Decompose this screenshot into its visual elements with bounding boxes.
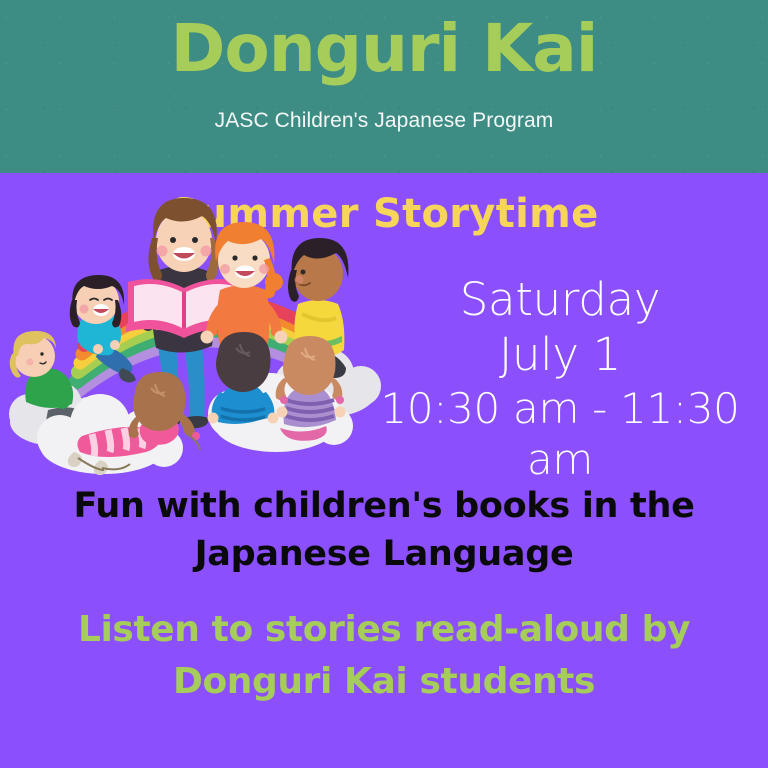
- storytime-illustration: [0, 196, 396, 486]
- event-datetime: Saturday July 1 10:30 am - 11:30 am: [352, 272, 768, 486]
- cta-line-1: Listen to stories read-aloud by: [34, 604, 734, 656]
- header-banner: Donguri Kai JASC Children's Japanese Pro…: [0, 0, 768, 173]
- event-description: Fun with children's books in the Japanes…: [54, 482, 714, 579]
- poster-canvas: Donguri Kai JASC Children's Japanese Pro…: [0, 0, 768, 768]
- page-title: Donguri Kai: [0, 16, 768, 82]
- event-day: Saturday: [352, 272, 768, 327]
- description-line-2: Japanese Language: [54, 530, 714, 578]
- event-time: 10:30 am - 11:30 am: [352, 383, 768, 486]
- cta-line-2: Donguri Kai students: [34, 656, 734, 708]
- page-subtitle: JASC Children's Japanese Program: [0, 109, 768, 133]
- event-cta: Listen to stories read-aloud by Donguri …: [34, 604, 734, 708]
- event-date: July 1: [352, 327, 768, 382]
- description-line-1: Fun with children's books in the: [54, 482, 714, 530]
